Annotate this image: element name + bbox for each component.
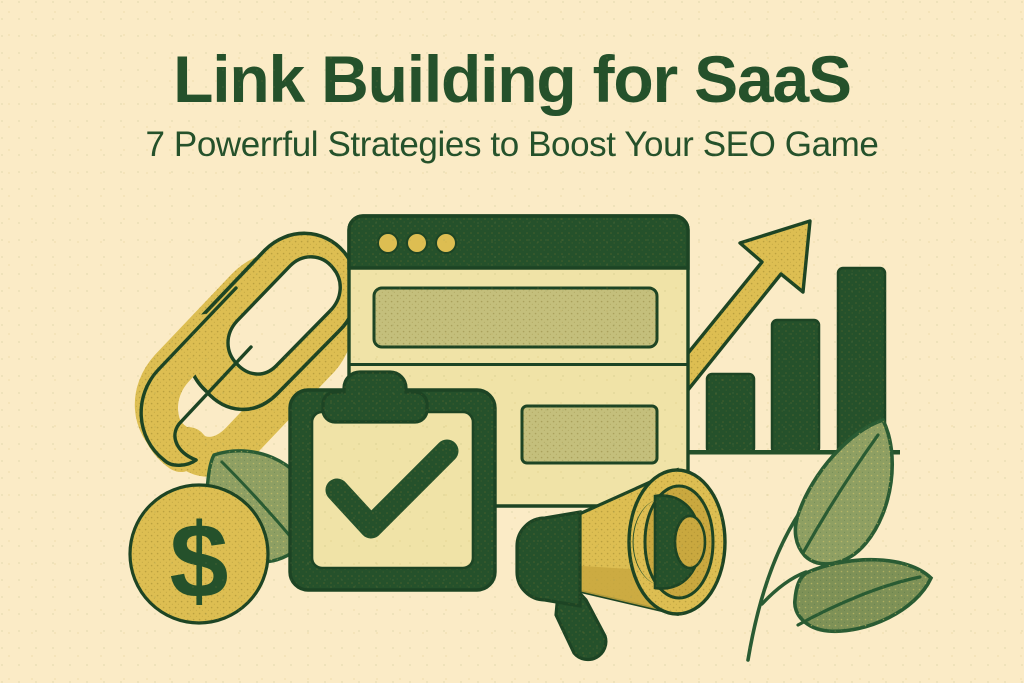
- heading-block: Link Building for SaaS 7 Powerrful Strat…: [0, 46, 1024, 164]
- page-subtitle: 7 Powerrful Strategies to Boost Your SEO…: [0, 127, 1024, 164]
- dollar-sign-icon: $: [170, 502, 229, 620]
- page-title: Link Building for SaaS: [0, 46, 1024, 113]
- clipboard-checklist-icon: [290, 372, 495, 590]
- browser-dot-1: [378, 233, 398, 253]
- leaf-right-lower-icon: [795, 560, 931, 632]
- browser-dot-2: [407, 233, 427, 253]
- dollar-coin-icon: $: [130, 485, 268, 623]
- poster-canvas: $ Link B: [0, 0, 1024, 683]
- browser-dot-3: [436, 233, 456, 253]
